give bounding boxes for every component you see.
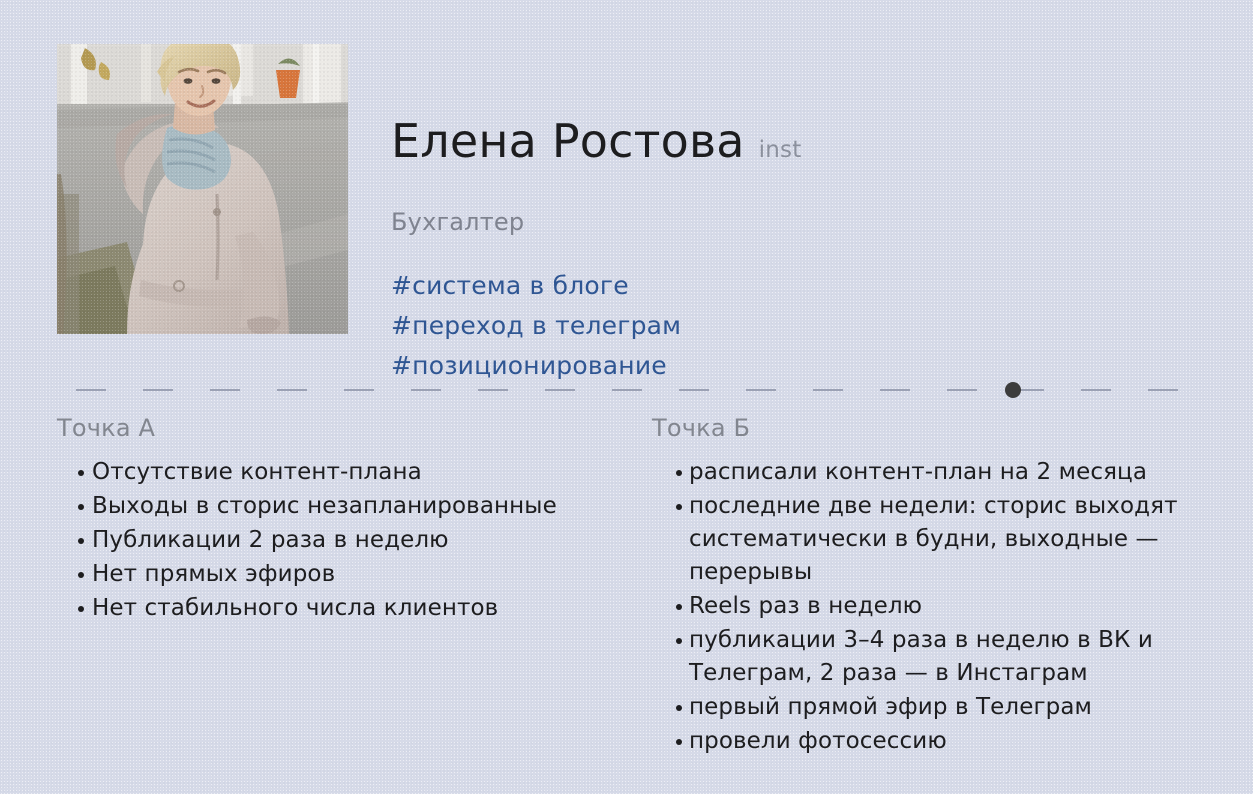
profile-photo <box>57 44 348 334</box>
list-item: публикации 3–4 раза в неделю в ВК и Теле… <box>652 624 1192 690</box>
list-item: Нет прямых эфиров <box>57 558 652 591</box>
page-title: Елена Ростова <box>391 117 745 165</box>
slide-canvas: Елена Ростова inst Бухгалтер #система в … <box>0 0 1253 794</box>
list-item: Публикации 2 раза в неделю <box>57 524 652 557</box>
section-divider <box>76 382 1197 398</box>
column-point-a: Точка А Отсутствие контент-плана Выходы … <box>57 414 652 759</box>
comparison-columns: Точка А Отсутствие контент-плана Выходы … <box>57 414 1205 759</box>
list-item: первый прямой эфир в Телеграм <box>652 691 1192 724</box>
point-b-list: расписали контент-план на 2 месяца после… <box>652 456 1192 758</box>
list-item: Отсутствие контент-плана <box>57 456 652 489</box>
progress-dot-icon <box>1005 382 1021 398</box>
list-item: Reels раз в неделю <box>652 590 1192 623</box>
dashed-rule <box>76 389 1197 391</box>
profile-text-block: Елена Ростова inst Бухгалтер #система в … <box>391 44 801 386</box>
column-title-point-a: Точка А <box>57 414 652 442</box>
hashtag-list: #система в блоге #переход в телеграм #по… <box>391 266 801 386</box>
list-item: последние две недели: сторис выходят сис… <box>652 490 1192 589</box>
profile-header: Елена Ростова inst Бухгалтер #система в … <box>57 44 1213 386</box>
point-a-list: Отсутствие контент-плана Выходы в сторис… <box>57 456 652 625</box>
list-item: провели фотосессию <box>652 725 1192 758</box>
profile-photo-illustration <box>57 44 348 334</box>
hashtag-item-2[interactable]: #позиционирование <box>391 346 801 386</box>
role-subtitle: Бухгалтер <box>391 208 801 236</box>
name-row: Елена Ростова inst <box>391 86 801 196</box>
platform-label: inst <box>759 137 802 163</box>
hashtag-item-1[interactable]: #переход в телеграм <box>391 306 801 346</box>
list-item: Нет стабильного числа клиентов <box>57 592 652 625</box>
column-title-point-b: Точка Б <box>652 414 1192 442</box>
list-item: Выходы в сторис незапланированные <box>57 490 652 523</box>
list-item: расписали контент-план на 2 месяца <box>652 456 1192 489</box>
column-point-b: Точка Б расписали контент-план на 2 меся… <box>652 414 1192 759</box>
hashtag-item-0[interactable]: #система в блоге <box>391 266 801 306</box>
